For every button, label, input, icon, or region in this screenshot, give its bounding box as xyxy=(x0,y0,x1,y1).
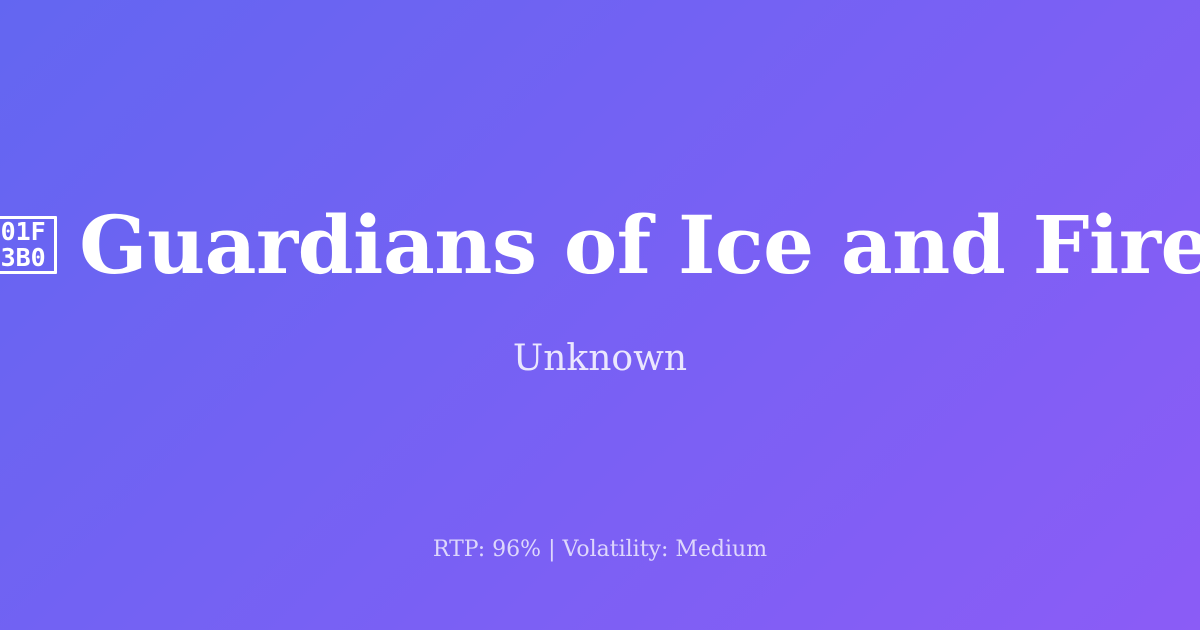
card-subtitle: Unknown xyxy=(513,337,687,380)
page-title: Guardians of Ice and Fire xyxy=(79,203,1200,287)
card-footer-stats: RTP: 96% | Volatility: Medium xyxy=(0,537,1200,563)
og-card: 01F 3B0 Guardians of Ice and Fire Unknow… xyxy=(0,0,1200,630)
card-center-block: 01F 3B0 Guardians of Ice and Fire Unknow… xyxy=(40,203,1160,380)
tofu-codepoint-high: 01F xyxy=(1,219,46,245)
tofu-codepoint-low: 3B0 xyxy=(1,245,46,271)
title-row: 01F 3B0 Guardians of Ice and Fire xyxy=(40,203,1160,287)
slot-machine-icon: 01F 3B0 xyxy=(0,216,57,274)
